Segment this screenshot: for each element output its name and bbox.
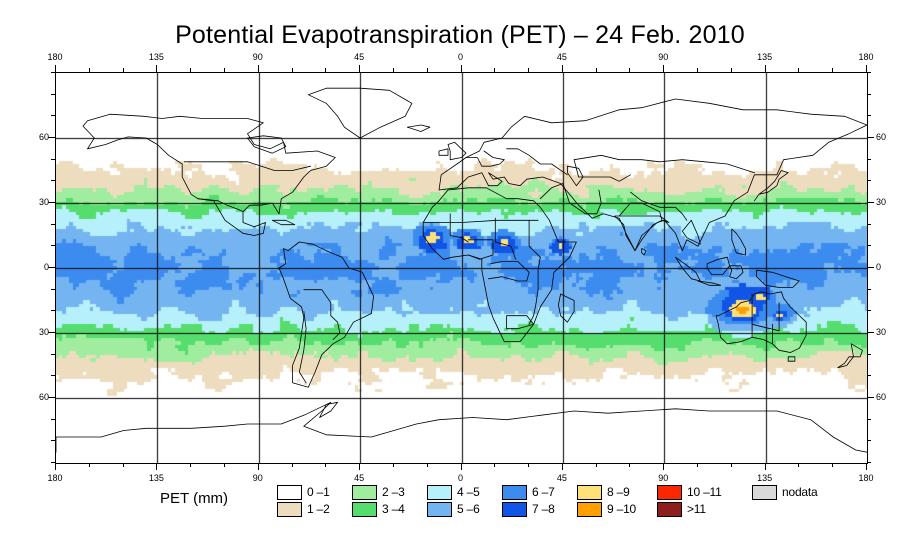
x-tick-top xyxy=(190,68,191,72)
x-tick-bottom xyxy=(359,463,360,470)
legend-entry: >11 xyxy=(657,501,722,517)
legend-label: 0 –1 xyxy=(307,485,330,499)
legend-swatch xyxy=(502,485,527,500)
y-tick-right xyxy=(867,115,871,116)
x-tick-bottom xyxy=(832,463,833,467)
legend-label: 4 –5 xyxy=(457,485,480,499)
x-tick-top xyxy=(798,68,799,72)
x-tick-bottom xyxy=(156,463,157,470)
legend-entry: 10 –11 xyxy=(657,484,722,500)
y-tick-left xyxy=(48,137,55,138)
x-tick-top xyxy=(292,68,293,72)
page-title: Potential Evapotranspiration (PET) – 24 … xyxy=(0,21,920,50)
y-tick-right xyxy=(867,462,871,463)
x-tick-top xyxy=(427,68,428,72)
legend-entry: 8 –9 xyxy=(577,484,636,500)
x-tick-top xyxy=(359,65,360,72)
x-tick-top xyxy=(629,68,630,72)
x-tick-top xyxy=(866,65,867,72)
y-tick-right xyxy=(867,440,871,441)
y-tick-left xyxy=(51,289,55,290)
x-axis-label-top: 135 xyxy=(757,52,772,62)
legend-swatch xyxy=(352,502,377,517)
x-tick-top xyxy=(528,68,529,72)
map-plot-frame xyxy=(55,72,868,464)
x-axis-label-top: 90 xyxy=(658,52,668,62)
y-tick-right xyxy=(867,94,871,95)
y-tick-left xyxy=(51,115,55,116)
legend-label: 7 –8 xyxy=(532,502,555,516)
legend-column: 8 –99 –10 xyxy=(577,484,636,518)
y-axis-label-left: 60 xyxy=(27,392,49,402)
legend-column: 4 –55 –6 xyxy=(427,484,480,518)
y-tick-left xyxy=(51,224,55,225)
legend-swatch xyxy=(657,485,682,500)
x-tick-bottom xyxy=(697,463,698,467)
x-axis-label-top: 180 xyxy=(858,52,873,62)
pet-heatmap-canvas xyxy=(56,73,867,463)
y-tick-right xyxy=(867,397,874,398)
x-tick-top xyxy=(562,65,563,72)
x-tick-top xyxy=(89,68,90,72)
legend-label: 6 –7 xyxy=(532,485,555,499)
y-tick-left xyxy=(48,267,55,268)
x-tick-top xyxy=(258,65,259,72)
x-tick-bottom xyxy=(629,463,630,467)
legend-entry: 5 –6 xyxy=(427,501,480,517)
legend-swatch xyxy=(502,502,527,517)
legend: PET (mm) 0 –11 –22 –33 –44 –55 –66 –77 –… xyxy=(55,481,866,525)
y-tick-right xyxy=(867,375,871,376)
legend-entry: nodata xyxy=(752,484,818,500)
x-tick-bottom xyxy=(292,463,293,467)
legend-label: nodata xyxy=(782,485,818,499)
legend-swatch xyxy=(427,485,452,500)
x-tick-bottom xyxy=(393,463,394,467)
legend-entry: 3 –4 xyxy=(352,501,405,517)
x-tick-top xyxy=(325,68,326,72)
y-tick-left xyxy=(48,397,55,398)
x-tick-top xyxy=(596,68,597,72)
legend-entry: 9 –10 xyxy=(577,501,636,517)
legend-swatch xyxy=(277,502,302,517)
legend-title: PET (mm) xyxy=(160,490,228,507)
y-tick-right xyxy=(867,180,871,181)
y-tick-right xyxy=(867,202,874,203)
legend-entry: 6 –7 xyxy=(502,484,555,500)
y-tick-left xyxy=(48,202,55,203)
legend-label: 2 –3 xyxy=(382,485,405,499)
x-tick-bottom xyxy=(866,463,867,470)
legend-entry: 4 –5 xyxy=(427,484,480,500)
y-axis-label-right: 30 xyxy=(876,197,898,207)
legend-label: 10 –11 xyxy=(687,485,722,499)
y-tick-left xyxy=(51,245,55,246)
legend-entry: 0 –1 xyxy=(277,484,330,500)
y-tick-left xyxy=(51,354,55,355)
y-axis-label-left: 30 xyxy=(27,327,49,337)
legend-label: >11 xyxy=(687,502,706,516)
y-tick-left xyxy=(51,94,55,95)
x-tick-bottom xyxy=(494,463,495,467)
legend-label: 1 –2 xyxy=(307,502,330,516)
x-tick-top xyxy=(123,68,124,72)
x-tick-top xyxy=(832,68,833,72)
x-tick-top xyxy=(224,68,225,72)
x-tick-top xyxy=(697,68,698,72)
x-tick-bottom xyxy=(798,463,799,467)
x-tick-top xyxy=(156,65,157,72)
x-tick-bottom xyxy=(562,463,563,470)
y-axis-label-left: 0 xyxy=(27,262,49,272)
y-axis-label-right: 30 xyxy=(876,327,898,337)
legend-column: 10 –11>11 xyxy=(657,484,722,518)
legend-swatch xyxy=(577,502,602,517)
legend-column: 6 –77 –8 xyxy=(502,484,555,518)
x-tick-top xyxy=(731,68,732,72)
y-tick-left xyxy=(51,462,55,463)
y-tick-left xyxy=(51,159,55,160)
x-tick-bottom xyxy=(55,463,56,470)
legend-swatch xyxy=(577,485,602,500)
y-tick-right xyxy=(867,224,871,225)
x-axis-label-top: 0 xyxy=(458,52,463,62)
legend-swatch xyxy=(277,485,302,500)
y-tick-right xyxy=(867,332,874,333)
y-tick-right xyxy=(867,137,874,138)
legend-label: 5 –6 xyxy=(457,502,480,516)
legend-label: 8 –9 xyxy=(607,485,630,499)
x-tick-bottom xyxy=(461,463,462,470)
legend-column: 2 –33 –4 xyxy=(352,484,405,518)
x-tick-bottom xyxy=(123,463,124,467)
y-axis-label-left: 60 xyxy=(27,132,49,142)
x-tick-bottom xyxy=(89,463,90,467)
legend-entry: 7 –8 xyxy=(502,501,555,517)
y-tick-left xyxy=(51,180,55,181)
y-tick-right xyxy=(867,245,871,246)
y-tick-left xyxy=(48,332,55,333)
legend-swatch xyxy=(657,502,682,517)
x-tick-bottom xyxy=(190,463,191,467)
legend-swatch xyxy=(352,485,377,500)
y-tick-left xyxy=(51,310,55,311)
x-tick-top xyxy=(55,65,56,72)
legend-label: 3 –4 xyxy=(382,502,405,516)
x-tick-bottom xyxy=(596,463,597,467)
x-axis-label-top: 45 xyxy=(557,52,567,62)
x-tick-bottom xyxy=(731,463,732,467)
legend-entry: 1 –2 xyxy=(277,501,330,517)
legend-column: 0 –11 –2 xyxy=(277,484,330,518)
y-tick-right xyxy=(867,72,871,73)
y-tick-right xyxy=(867,267,874,268)
x-tick-top xyxy=(461,65,462,72)
y-axis-label-right: 60 xyxy=(876,132,898,142)
x-axis-label-top: 90 xyxy=(253,52,263,62)
x-tick-bottom xyxy=(258,463,259,470)
legend-entry: 2 –3 xyxy=(352,484,405,500)
x-tick-bottom xyxy=(224,463,225,467)
y-tick-right xyxy=(867,289,871,290)
y-tick-left xyxy=(51,440,55,441)
x-tick-bottom xyxy=(427,463,428,467)
x-tick-bottom xyxy=(663,463,664,470)
x-tick-bottom xyxy=(528,463,529,467)
x-tick-bottom xyxy=(325,463,326,467)
y-tick-right xyxy=(867,310,871,311)
y-tick-left xyxy=(51,72,55,73)
x-tick-bottom xyxy=(765,463,766,470)
x-axis-label-top: 45 xyxy=(354,52,364,62)
y-axis-label-left: 30 xyxy=(27,197,49,207)
x-axis-label-top: 135 xyxy=(149,52,164,62)
y-tick-right xyxy=(867,159,871,160)
x-axis-label-top: 180 xyxy=(47,52,62,62)
y-axis-label-right: 0 xyxy=(876,262,898,272)
legend-swatch xyxy=(752,485,777,500)
legend-swatch xyxy=(427,502,452,517)
figure-root: Potential Evapotranspiration (PET) – 24 … xyxy=(0,0,920,539)
x-tick-top xyxy=(765,65,766,72)
legend-label: 9 –10 xyxy=(607,502,636,516)
y-axis-label-right: 60 xyxy=(876,392,898,402)
y-tick-right xyxy=(867,419,871,420)
x-tick-top xyxy=(393,68,394,72)
y-tick-left xyxy=(51,375,55,376)
x-tick-top xyxy=(663,65,664,72)
y-tick-left xyxy=(51,419,55,420)
x-tick-top xyxy=(494,68,495,72)
legend-column: nodata xyxy=(752,484,818,501)
y-tick-right xyxy=(867,354,871,355)
